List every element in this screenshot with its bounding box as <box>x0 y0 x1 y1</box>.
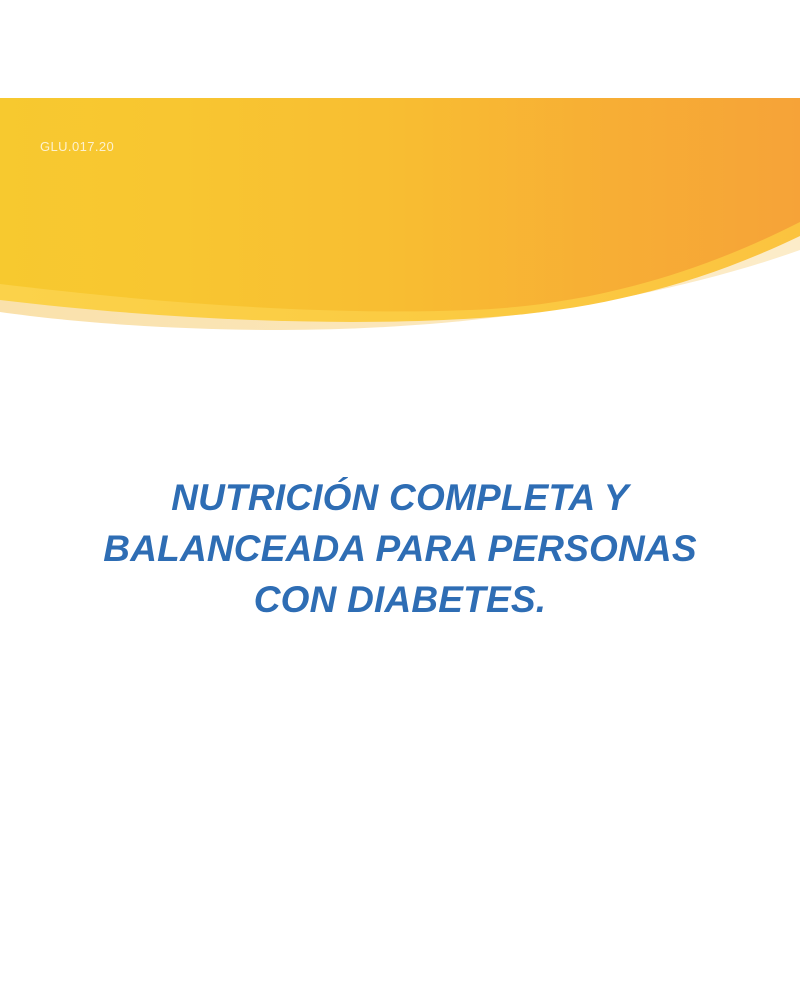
header-banner <box>0 0 800 340</box>
slide-code-label: GLU.017.20 <box>40 139 114 154</box>
banner-main-shape <box>0 98 800 311</box>
banner-cream-band <box>0 98 800 330</box>
page-title-line-1: NUTRICIÓN COMPLETA Y <box>50 472 750 523</box>
page-title-line-3: CON DIABETES. <box>50 574 750 625</box>
page-title: NUTRICIÓN COMPLETA Y BALANCEADA PARA PER… <box>50 472 750 625</box>
banner-light-band <box>0 98 800 322</box>
banner-graphic <box>0 0 800 340</box>
slide-canvas: GLU.017.20 NUTRICIÓN COMPLETA Y BALANCEA… <box>0 0 800 1000</box>
page-title-line-2: BALANCEADA PARA PERSONAS <box>50 523 750 574</box>
